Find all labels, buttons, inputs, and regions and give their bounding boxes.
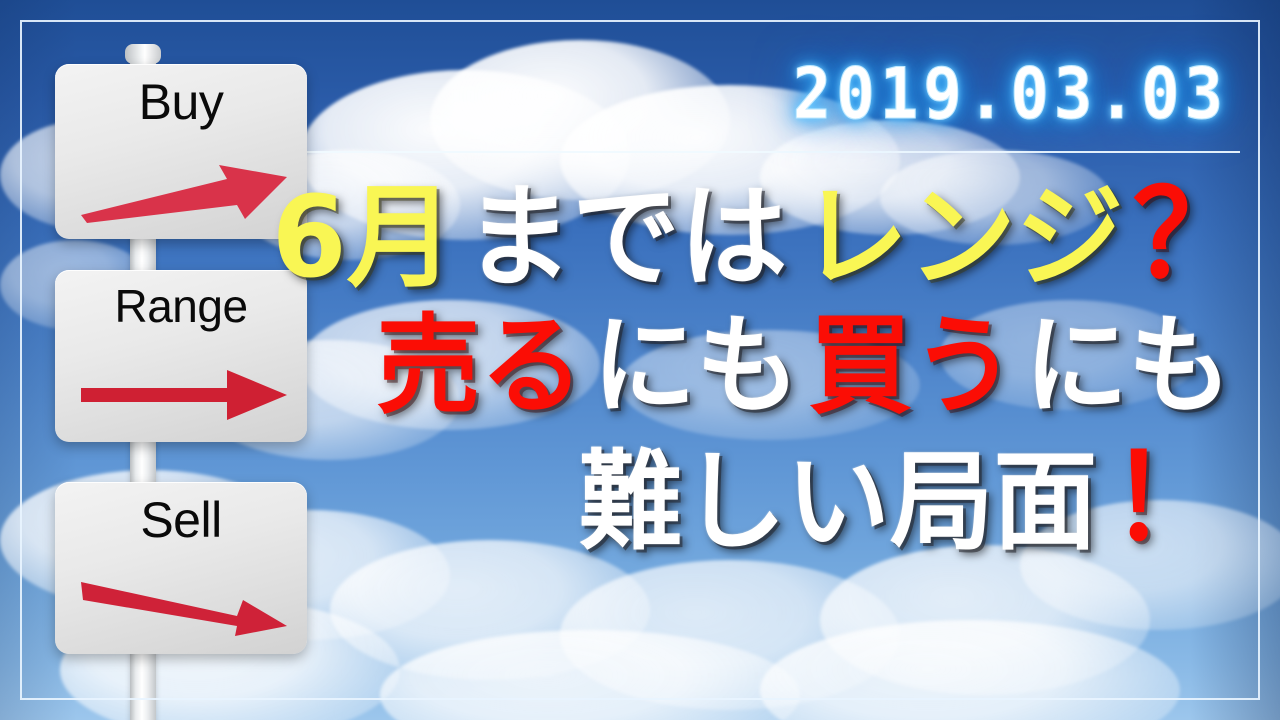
headline-seg-madewa: までは: [465, 182, 788, 294]
headline-seg-nimo-2: にも: [1024, 313, 1231, 421]
headline-seg-exclamation: ！: [1110, 439, 1223, 557]
arrow-down-right-icon: [77, 576, 291, 638]
headline-seg-june: 6月: [272, 182, 454, 294]
headline-seg-range: レンジ: [801, 182, 1124, 294]
headline-text-block: 6月まではレンジ？ 売るにも買うにも 難しい局面！: [268, 176, 1258, 557]
headline-seg-muzukashii-kyokumen: 難しい局面: [579, 449, 1097, 557]
arrow-up-right-icon: [77, 161, 291, 223]
headline-line-2: 売るにも買うにも: [372, 312, 1258, 421]
headline-seg-uru: 売る: [376, 313, 583, 421]
date-stamp: 2019.03.03: [793, 54, 1228, 135]
headline-line-1: 6月まではレンジ？: [268, 176, 1258, 296]
headline-seg-nimo-1: にも: [592, 313, 799, 421]
video-thumbnail: Buy Range Sell: [0, 0, 1280, 720]
date-underline-rule: [297, 151, 1240, 153]
signpost-pole-cap: [125, 44, 161, 64]
headline-line-3: 難しい局面！: [568, 439, 1258, 557]
sign-buy-label: Buy: [55, 76, 307, 129]
arrow-right-icon: [77, 364, 291, 426]
headline-seg-kau: 買う: [808, 313, 1015, 421]
headline-seg-question: ？: [1132, 176, 1247, 296]
